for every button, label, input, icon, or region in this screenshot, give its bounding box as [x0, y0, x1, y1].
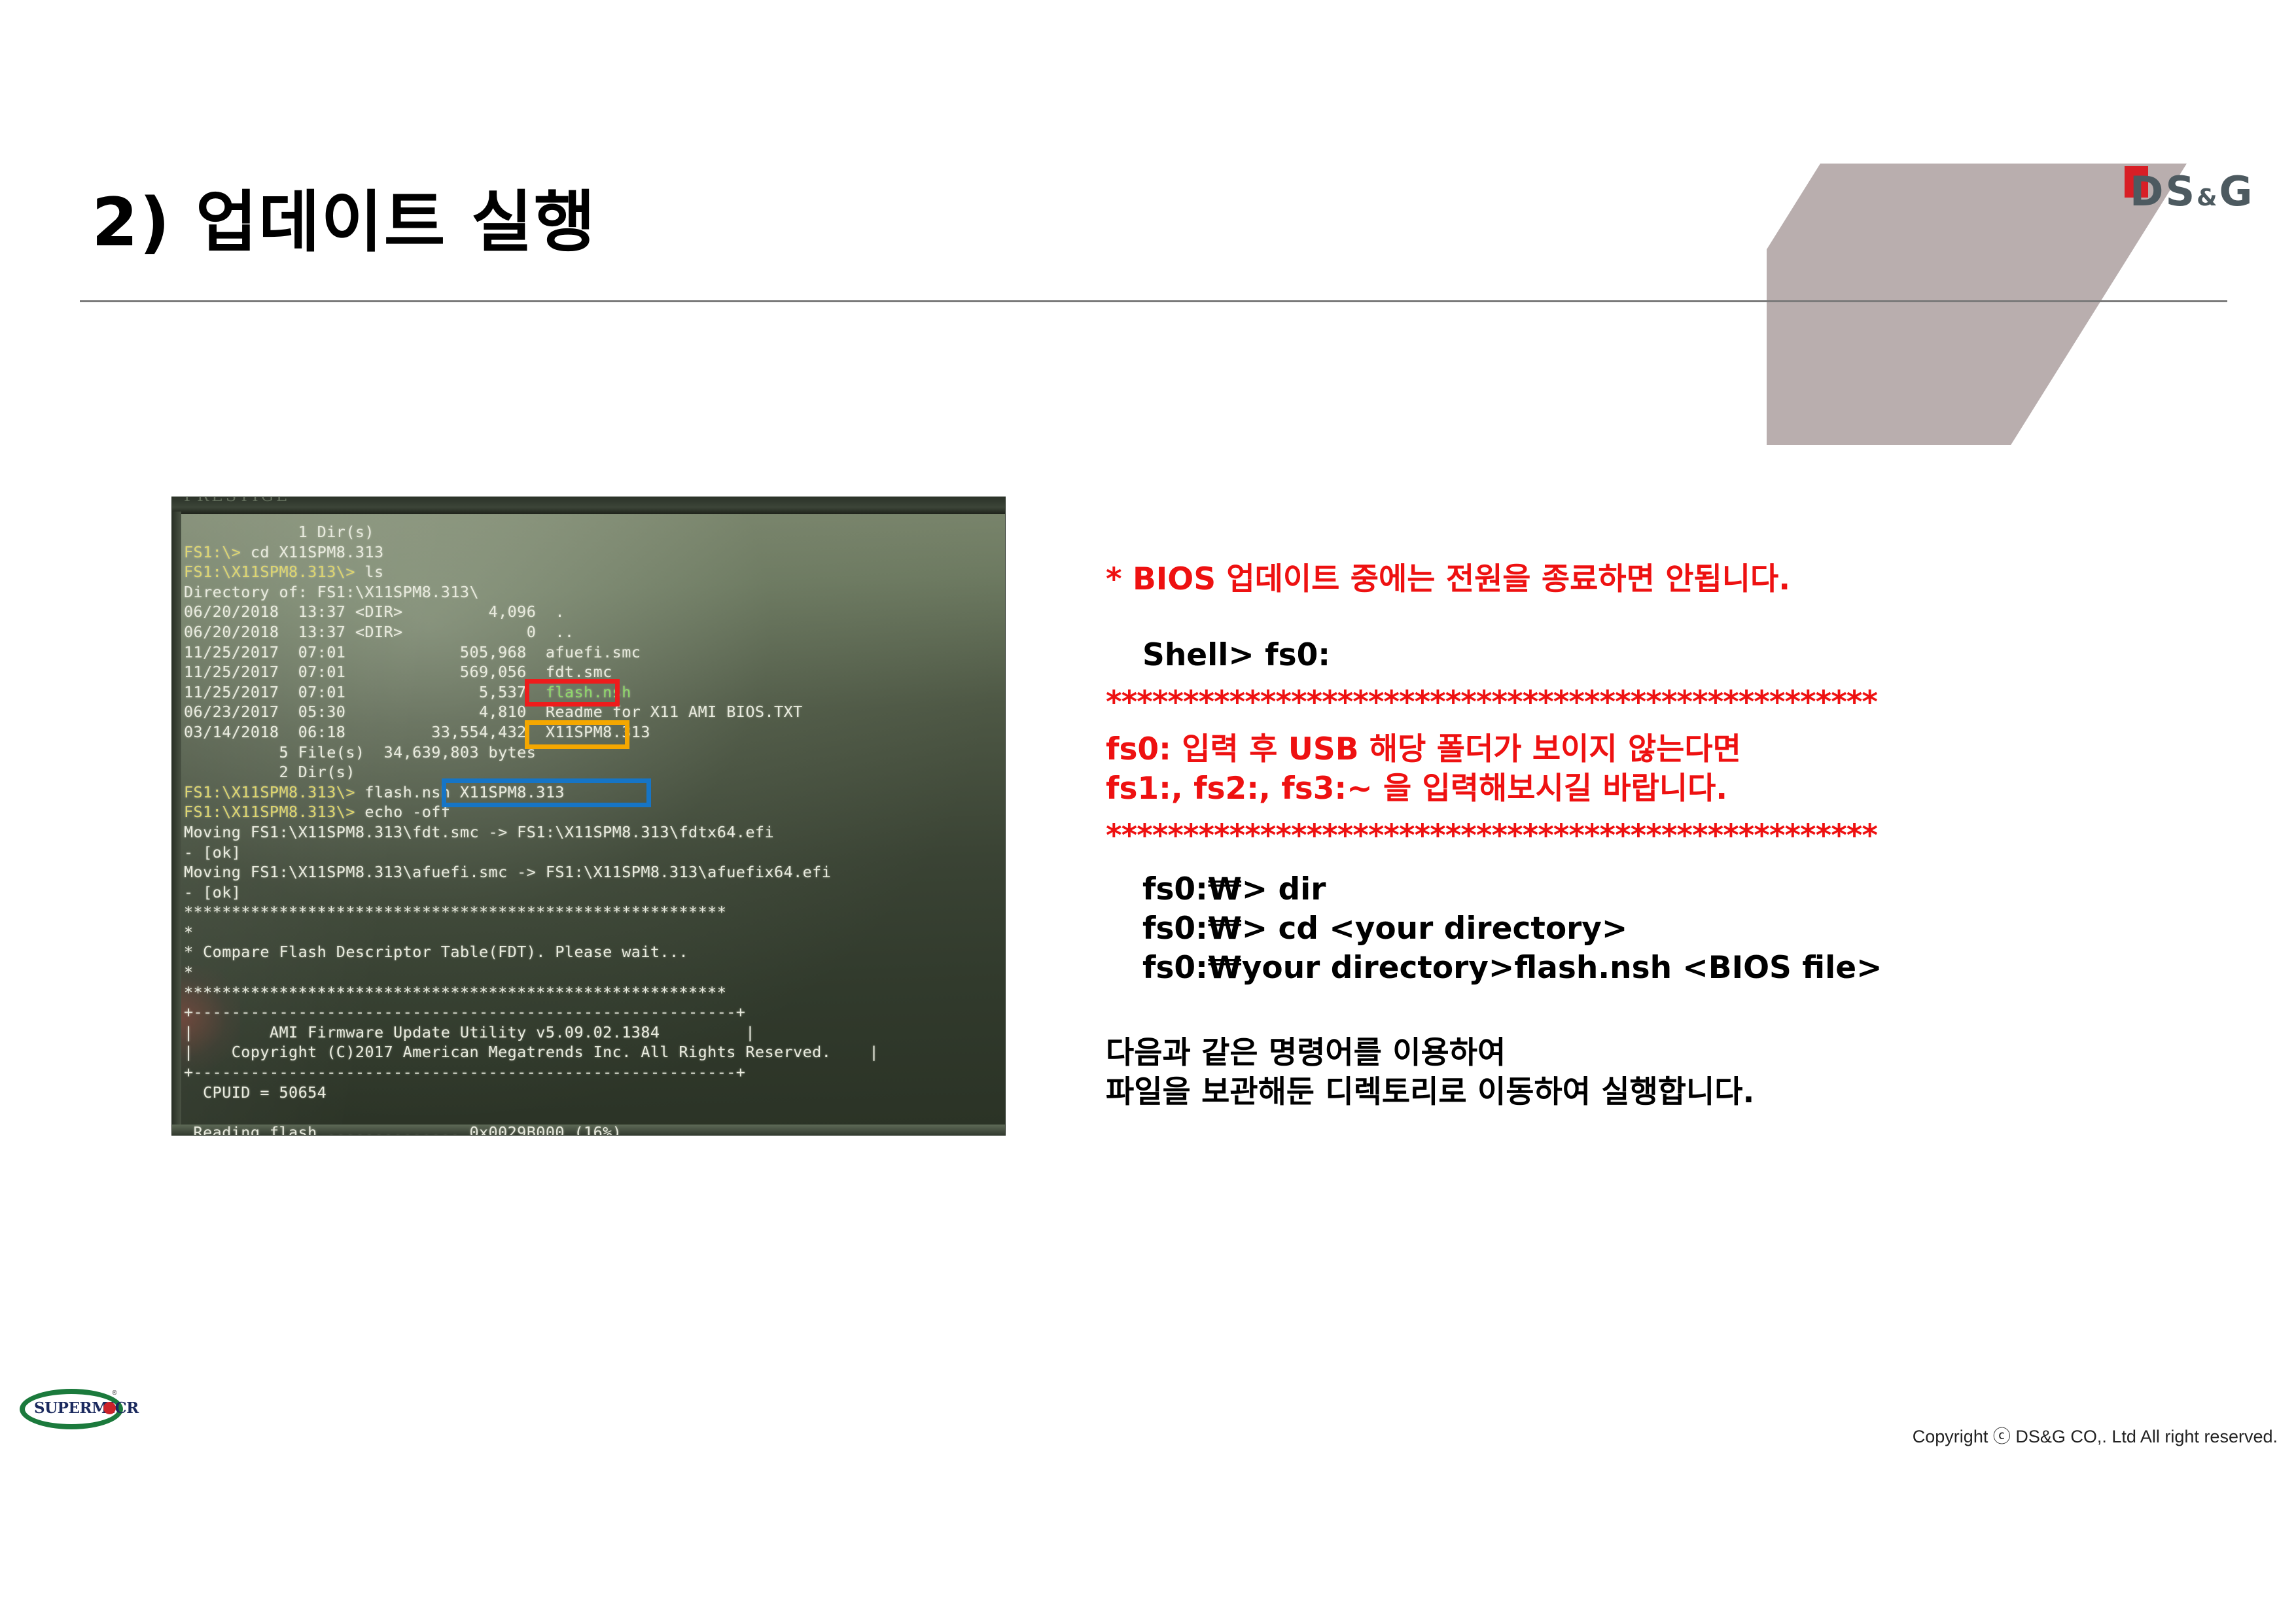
console-line: ****************************************… — [184, 902, 1005, 922]
console-line: 11/25/2017 07:01 5,537 flash.nsh — [184, 682, 1005, 703]
console-line: * — [184, 962, 1005, 983]
console-line: 06/23/2017 05:30 4,810 Readme for X11 AM… — [184, 702, 1005, 722]
dsg-logo: DS&G — [2125, 171, 2254, 224]
note-divider-top: ****************************************… — [1106, 686, 2257, 720]
console-line: 1 Dir(s) — [184, 522, 1005, 542]
uefi-shell-screen: 1 Dir(s)FS1:\> cd X11SPM8.313FS1:\X11SPM… — [181, 514, 1005, 1125]
console-line: +---------------------------------------… — [184, 1062, 1005, 1083]
console-line: ****************************************… — [184, 983, 1005, 1003]
console-filename-flash-nsh: flash.nsh — [546, 683, 631, 701]
monitor-bezel-left — [172, 512, 181, 1135]
note-divider-bottom: ****************************************… — [1106, 819, 2257, 853]
console-line: 2 Dir(s) — [184, 762, 1005, 782]
console-line: FS1:\X11SPM8.313\> flash.nsh X11SPM8.313 — [184, 782, 1005, 803]
dsg-logo-ds: DS — [2130, 167, 2197, 215]
instruction-notes: * BIOS 업데이트 중에는 전원을 종료하면 안됩니다. Shell> fs… — [1106, 560, 2257, 1112]
console-line: CPUID = 50654 — [184, 1083, 1005, 1103]
brand-band-parallelogram — [1767, 164, 2187, 445]
console-line: 06/20/2018 13:37 <DIR> 4,096 . — [184, 602, 1005, 622]
console-prompt: FS1:\X11SPM8.313\> — [184, 563, 355, 581]
console-line: | Copyright (C)2017 American Megatrends … — [184, 1042, 1005, 1062]
console-line: 11/25/2017 07:01 505,968 afuefi.smc — [184, 642, 1005, 663]
note-tip-line-1: fs0: 입력 후 USB 해당 폴더가 보이지 않는다면 — [1106, 730, 2257, 769]
note-cmd-flash: fs0:₩your directory>flash.nsh <BIOS file… — [1106, 949, 2257, 988]
dsg-logo-text: DS&G — [2130, 171, 2254, 218]
console-line: FS1:\> cd X11SPM8.313 — [184, 542, 1005, 563]
console-line: Moving FS1:\X11SPM8.313\afuefi.smc -> FS… — [184, 862, 1005, 882]
console-line: - [ok] — [184, 843, 1005, 863]
page-title: 2) 업데이트 실행 — [92, 169, 597, 265]
console-line: Moving FS1:\X11SPM8.313\fdt.smc -> FS1:\… — [184, 822, 1005, 843]
note-closing-line-1: 다음과 같은 명령어를 이용하여 — [1106, 1034, 2257, 1073]
console-line: * — [184, 922, 1005, 943]
supermicro-logo-registered-icon: ® — [111, 1389, 118, 1397]
console-line: _Reading flash .............. 0x0029B000… — [184, 1123, 1005, 1135]
bios-terminal-photo: PRESTIGE 1 Dir(s)FS1:\> cd X11SPM8.313FS… — [172, 497, 1005, 1135]
note-cmd-cd: fs0:₩> cd <your directory> — [1106, 909, 2257, 949]
console-line: Directory of: FS1:\X11SPM8.313\ — [184, 582, 1005, 602]
supermicro-logo-dot-icon — [103, 1402, 116, 1414]
note-cmd-dir: fs0:₩> dir — [1106, 870, 2257, 909]
console-line: FS1:\X11SPM8.313\> ls — [184, 562, 1005, 582]
console-line: 11/25/2017 07:01 569,056 fdt.smc — [184, 662, 1005, 682]
console-line: 03/14/2018 06:18 33,554,432 X11SPM8.313 — [184, 722, 1005, 742]
note-tip-line-2: fs1:, fs2:, fs3:~ 을 입력해보시길 바랍니다. — [1106, 769, 2257, 809]
supermicro-logo-wordmark: SUPERMICR — [34, 1399, 139, 1417]
note-shell-command: Shell> fs0: — [1106, 636, 2257, 675]
console-line: +---------------------------------------… — [184, 1002, 1005, 1022]
note-closing-line-2: 파일을 보관해둔 디렉토리로 이동하여 실행합니다. — [1106, 1073, 2257, 1112]
console-prompt: FS1:\X11SPM8.313\> — [184, 803, 355, 821]
footer-copyright: Copyright ⓒ DS&G CO,. Ltd All right rese… — [1913, 1422, 2278, 1448]
dsg-logo-ampersand: & — [2197, 184, 2219, 211]
title-divider — [80, 300, 2227, 302]
console-line: 5 File(s) 34,639,803 bytes — [184, 742, 1005, 763]
console-line: FS1:\X11SPM8.313\> echo -off — [184, 802, 1005, 822]
console-line — [184, 1102, 1005, 1123]
dsg-logo-g: G — [2219, 167, 2255, 215]
console-line: 06/20/2018 13:37 <DIR> 0 .. — [184, 622, 1005, 642]
console-line: * Compare Flash Descriptor Table(FDT). P… — [184, 942, 1005, 962]
uefi-shell-output: 1 Dir(s)FS1:\> cd X11SPM8.313FS1:\X11SPM… — [184, 522, 1005, 1135]
console-line: | AMI Firmware Update Utility v5.09.02.1… — [184, 1022, 1005, 1043]
note-power-warning: * BIOS 업데이트 중에는 전원을 종료하면 안됩니다. — [1106, 560, 2257, 599]
console-prompt: FS1:\X11SPM8.313\> — [184, 783, 355, 801]
supermicro-logo: SUPERMICR ® — [20, 1384, 124, 1435]
monitor-bezel-top: PRESTIGE — [172, 497, 1005, 514]
console-line: - [ok] — [184, 882, 1005, 903]
monitor-brand-label: PRESTIGE — [184, 497, 290, 505]
console-prompt: FS1:\> — [184, 543, 241, 561]
